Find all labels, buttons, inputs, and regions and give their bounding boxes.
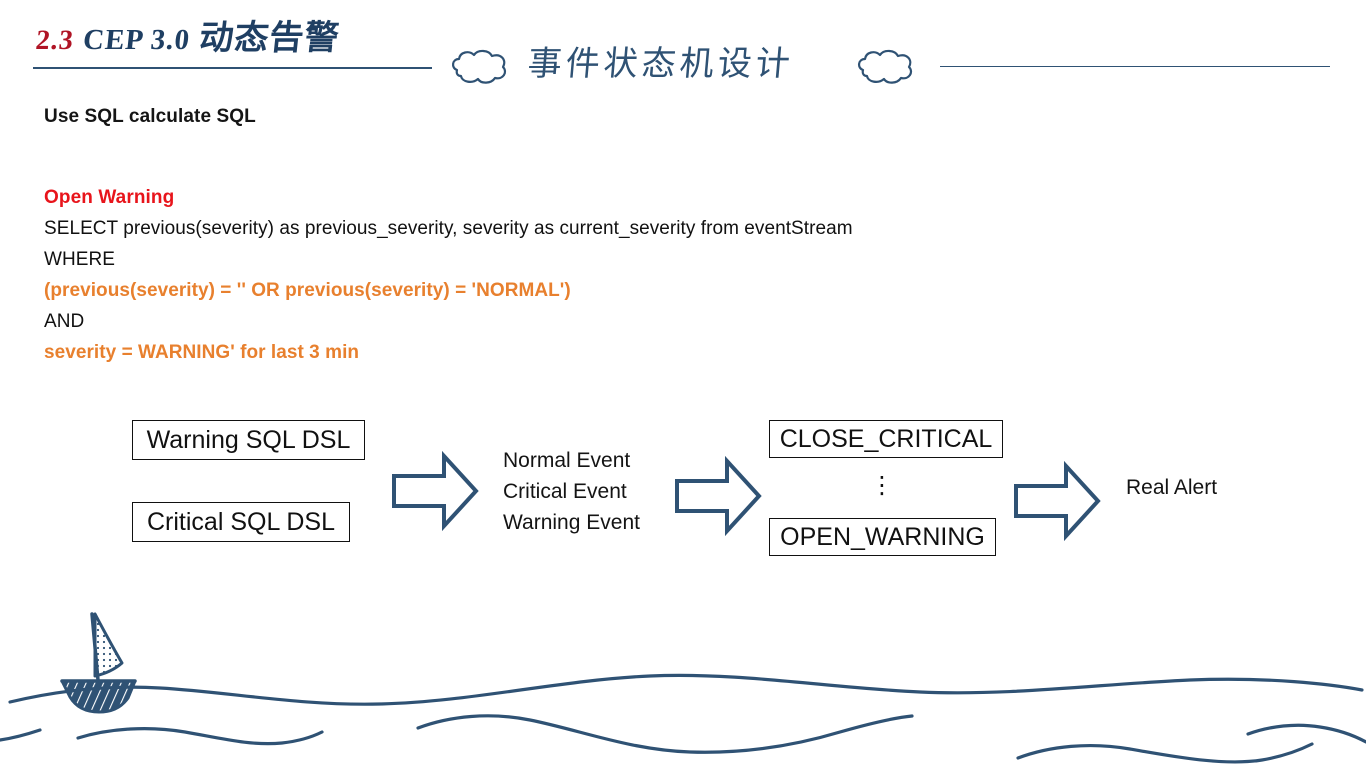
sql-statement-line: WHERE <box>44 249 115 271</box>
right-arrow-icon <box>1012 460 1102 547</box>
sql-content-block: Use SQL calculate SQL Open Warning SELEC… <box>44 106 1144 128</box>
sql-statement-line: severity = WARNING' for last 3 min <box>44 342 359 364</box>
diagram-box-critical-sql-dsl: Critical SQL DSL <box>132 502 350 542</box>
title-chinese-text: 动态告警 <box>197 18 341 58</box>
header-divider <box>940 66 1330 67</box>
open-warning-label: Open Warning <box>44 187 174 209</box>
footer-decoration <box>0 580 1366 768</box>
sql-statement-line: AND <box>44 311 84 333</box>
sql-statement-line: (previous(severity) = '' OR previous(sev… <box>44 280 571 302</box>
right-arrow-icon <box>673 455 763 542</box>
diagram-box-warning-sql-dsl: Warning SQL DSL <box>132 420 365 460</box>
cloud-icon <box>449 48 511 91</box>
slide-subtitle: 事件状态机设计 <box>526 36 796 85</box>
diagram-box-close-critical: CLOSE_CRITICAL <box>769 420 1003 458</box>
sql-statement-line: SELECT previous(severity) as previous_se… <box>44 218 853 240</box>
sql-heading: Use SQL calculate SQL <box>44 106 1144 128</box>
event-item: Normal Event <box>503 445 640 476</box>
event-type-list: Normal Event Critical Event Warning Even… <box>503 445 640 538</box>
cloud-icon <box>855 48 917 91</box>
real-alert-label: Real Alert <box>1126 476 1217 500</box>
page-title: 2.3 CEP 3.0 动态告警 <box>34 16 342 63</box>
title-latin-text: CEP 3.0 <box>82 24 192 56</box>
right-arrow-icon <box>390 450 480 537</box>
waves-icon <box>0 675 1366 762</box>
sailboat-icon <box>62 614 135 712</box>
event-item: Warning Event <box>503 507 640 538</box>
title-section-number: 2.3 <box>34 25 75 56</box>
vertical-ellipsis-icon: ⋮ <box>869 472 895 498</box>
diagram-box-open-warning: OPEN_WARNING <box>769 518 996 556</box>
flow-diagram: Warning SQL DSL Critical SQL DSL Normal … <box>0 400 1366 580</box>
slide-header: 2.3 CEP 3.0 动态告警 事件状态机设计 <box>0 0 1366 100</box>
event-item: Critical Event <box>503 476 640 507</box>
title-underline <box>33 67 432 69</box>
